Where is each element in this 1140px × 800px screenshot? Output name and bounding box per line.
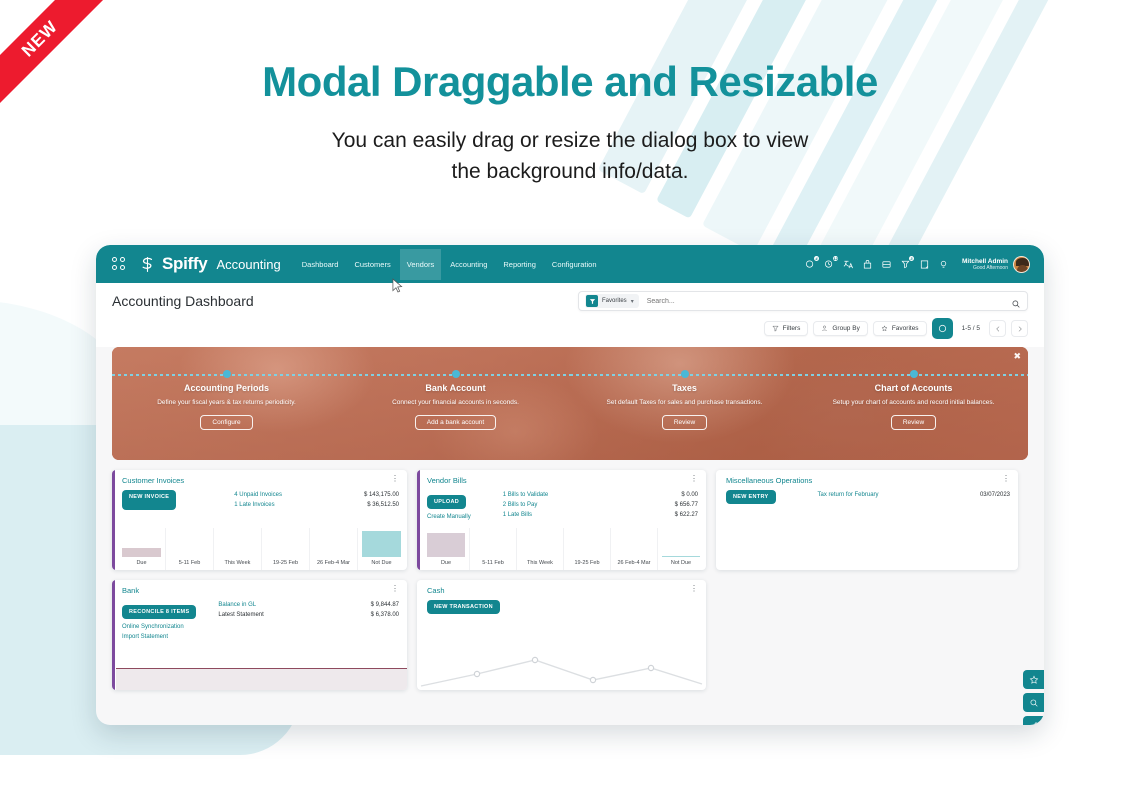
hero-subtitle-line2: the background info/data. <box>451 160 688 183</box>
favorites-chip-label: Favorites <box>602 298 627 304</box>
kebab-menu-icon[interactable]: ⋮ <box>391 586 399 592</box>
star-icon[interactable] <box>1023 670 1044 689</box>
stat-amount: $ 656.77 <box>675 500 698 510</box>
create-manually-link[interactable]: Create Manually <box>427 513 471 523</box>
kebab-menu-icon[interactable]: ⋮ <box>1002 476 1010 482</box>
card-title: Vendor Bills <box>427 476 467 485</box>
grid-view-icon[interactable] <box>880 258 892 270</box>
favorites-button[interactable]: Favorites <box>873 321 927 336</box>
card-customer-invoices[interactable]: Customer Invoices ⋮ NEW INVOICE 4 Unpaid… <box>112 470 407 570</box>
nav-item-configuration[interactable]: Configuration <box>545 249 604 280</box>
apps-grid-icon[interactable] <box>112 257 128 271</box>
user-greeting: Good Afternoon <box>962 265 1008 271</box>
step-title: Accounting Periods <box>112 383 341 393</box>
card-miscellaneous-operations[interactable]: Miscellaneous Operations ⋮ NEW ENTRY Tax… <box>716 470 1018 570</box>
dashboard-board: ✖ Accounting Periods Define your fiscal … <box>96 347 1044 690</box>
new-ribbon: NEW <box>0 0 115 115</box>
card-title: Bank <box>122 586 139 595</box>
new-transaction-button[interactable]: NEW TRANSACTION <box>427 600 500 614</box>
filters-button[interactable]: Filters <box>764 321 809 336</box>
stat-label[interactable]: Balance in GL <box>218 600 263 610</box>
axis-tick: This Week <box>527 557 553 570</box>
axis-tick: This Week <box>225 557 251 570</box>
onboarding-step-taxes: Taxes Set default Taxes for sales and pu… <box>570 347 799 460</box>
step-dot <box>223 370 231 378</box>
note-icon[interactable] <box>918 258 930 270</box>
axis-tick: 19-25 Feb <box>574 557 599 570</box>
axis-tick: 19-25 Feb <box>273 557 298 570</box>
online-synchronization-link[interactable]: Online Synchronization <box>122 623 196 633</box>
stat-amount: $ 36,512.50 <box>364 500 399 510</box>
step-desc: Set default Taxes for sales and purchase… <box>570 398 799 407</box>
stat-label[interactable]: 1 Late Bills <box>503 510 549 520</box>
new-invoice-button[interactable]: NEW INVOICE <box>122 490 176 510</box>
brand[interactable]: Spiffy <box>138 254 207 274</box>
review-taxes-button[interactable]: Review <box>662 415 707 430</box>
card-vendor-bills[interactable]: Vendor Bills ⋮ UPLOAD Create Manually 1 … <box>417 470 706 570</box>
axis-tick: 5-11 Feb <box>179 557 201 570</box>
card-title: Customer Invoices <box>122 476 184 485</box>
stat-label[interactable]: 1 Late Invoices <box>234 500 282 510</box>
step-dot <box>452 370 460 378</box>
stat-amount: $ 622.27 <box>675 510 698 520</box>
star-icon <box>881 325 888 332</box>
kanban-view-icon[interactable] <box>932 318 953 339</box>
spiffy-logo-icon <box>138 255 157 274</box>
search-icon[interactable] <box>1011 296 1021 306</box>
stat-label[interactable]: 4 Unpaid Invoices <box>234 490 282 500</box>
stat-label[interactable]: 1 Bills to Validate <box>503 490 549 500</box>
group-by-icon <box>821 325 828 332</box>
axis-tick: Due <box>441 557 451 570</box>
onboarding-banner: ✖ Accounting Periods Define your fiscal … <box>112 347 1028 460</box>
step-desc: Connect your financial accounts in secon… <box>341 398 570 407</box>
onboarding-step-chart-of-accounts: Chart of Accounts Setup your chart of ac… <box>799 347 1028 460</box>
nav-item-vendors[interactable]: Vendors <box>400 249 442 280</box>
reconcile-button[interactable]: RECONCILE 8 ITEMS <box>122 605 196 619</box>
import-statement-link[interactable]: Import Statement <box>122 633 196 643</box>
nav-item-dashboard[interactable]: Dashboard <box>295 249 346 280</box>
search-bar[interactable]: Favorites ▾ <box>578 291 1028 311</box>
new-ribbon-label: NEW <box>0 0 115 115</box>
navbar-systray: 4 12 3 <box>804 256 1034 273</box>
kebab-menu-icon[interactable]: ⋮ <box>690 476 698 482</box>
kebab-menu-icon[interactable]: ⋮ <box>391 476 399 482</box>
filter-funnel-icon <box>586 295 598 307</box>
app-name: Accounting <box>216 257 280 272</box>
avatar[interactable] <box>1013 256 1030 273</box>
card-cash[interactable]: Cash ⋮ NEW TRANSACTION <box>417 580 706 690</box>
axis-tick: 26 Feb-4 Mar <box>617 557 650 570</box>
group-by-button[interactable]: Group By <box>813 321 867 336</box>
axis-tick: 26 Feb-4 Mar <box>317 557 350 570</box>
shop-icon[interactable] <box>861 258 873 270</box>
app-navbar: Spiffy Accounting Dashboard Customers Ve… <box>96 245 1044 283</box>
prev-page-button[interactable] <box>989 320 1006 337</box>
stat-amount: $ 143,175.00 <box>364 490 399 500</box>
onboarding-step-accounting-periods: Accounting Periods Define your fiscal ye… <box>112 347 341 460</box>
messages-badge: 4 <box>814 256 819 261</box>
card-title: Miscellaneous Operations <box>726 476 812 485</box>
vendor-bills-bar-chart: Due 5-11 Feb This Week 19-25 Feb 26 Feb-… <box>417 528 706 570</box>
page-title: Modal Draggable and Resizable <box>0 58 1140 106</box>
user-menu[interactable]: Mitchell Admin Good Afternoon <box>962 256 1030 273</box>
page-root: NEW Modal Draggable and Resizable You ca… <box>0 0 1140 800</box>
mouse-cursor <box>392 278 403 293</box>
search-icon[interactable] <box>1023 693 1044 712</box>
step-desc: Setup your chart of accounts and record … <box>799 398 1028 407</box>
hero-subtitle-line1: You can easily drag or resize the dialog… <box>332 129 809 152</box>
favorites-label: Favorites <box>892 325 919 332</box>
control-bar: Accounting Dashboard Favorites ▾ <box>96 283 1044 347</box>
cards-row-1: Customer Invoices ⋮ NEW INVOICE 4 Unpaid… <box>112 470 1028 570</box>
card-title: Cash <box>427 586 445 595</box>
side-toolbar <box>1023 670 1044 725</box>
arrow-left-icon <box>994 325 1002 333</box>
messages-icon[interactable]: 4 <box>804 258 816 270</box>
axis-tick: Due <box>136 557 146 570</box>
user-name: Mitchell Admin <box>962 258 1008 265</box>
navbar-menu: Dashboard Customers Vendors Accounting R… <box>295 249 604 280</box>
step-title: Bank Account <box>341 383 570 393</box>
filters-label: Filters <box>783 325 801 332</box>
new-entry-button[interactable]: NEW ENTRY <box>726 490 776 504</box>
pager-label: 1-5 / 5 <box>958 325 984 332</box>
axis-tick: 5-11 Feb <box>482 557 504 570</box>
filter-flag-icon[interactable]: 3 <box>899 258 911 270</box>
stat-amount: $ 0.00 <box>675 490 698 500</box>
stat-amount: $ 9,844.87 <box>371 600 399 610</box>
step-title: Chart of Accounts <box>799 383 1028 393</box>
misc-entry-date: 03/07/2023 <box>980 490 1010 500</box>
link-path-icon[interactable] <box>1023 716 1044 725</box>
nav-item-accounting[interactable]: Accounting <box>443 249 494 280</box>
add-bank-account-button[interactable]: Add a bank account <box>415 415 496 430</box>
step-desc: Define your fiscal years & tax returns p… <box>112 398 341 407</box>
onboarding-step-bank-account: Bank Account Connect your financial acco… <box>341 347 570 460</box>
hero-subtitle: You can easily drag or resize the dialog… <box>0 126 1140 187</box>
step-title: Taxes <box>570 383 799 393</box>
review-chart-button[interactable]: Review <box>891 415 936 430</box>
configure-button[interactable]: Configure <box>200 415 252 430</box>
app-window: Spiffy Accounting Dashboard Customers Ve… <box>96 245 1044 725</box>
translate-icon[interactable] <box>842 258 854 270</box>
activities-icon[interactable]: 12 <box>823 258 835 270</box>
breadcrumb: Accounting Dashboard <box>112 293 254 309</box>
arrow-right-icon <box>1016 325 1024 333</box>
activities-badge: 12 <box>833 256 838 261</box>
next-page-button[interactable] <box>1011 320 1028 337</box>
card-bank[interactable]: Bank ⋮ RECONCILE 8 ITEMS Online Synchron… <box>112 580 407 690</box>
nav-item-reporting[interactable]: Reporting <box>496 249 543 280</box>
cards-row-2: Bank ⋮ RECONCILE 8 ITEMS Online Synchron… <box>112 580 1028 690</box>
search-input[interactable] <box>639 298 1011 305</box>
axis-tick: Not Due <box>671 557 691 570</box>
upload-button[interactable]: UPLOAD <box>427 495 466 509</box>
stat-label[interactable]: 2 Bills to Pay <box>503 500 549 510</box>
group-by-label: Group By <box>832 325 859 332</box>
customer-invoices-bar-chart: Due 5-11 Feb This Week 19-25 Feb 26 Feb-… <box>112 528 407 570</box>
cash-line-chart <box>417 632 706 690</box>
stat-amount: $ 6,378.00 <box>371 610 399 620</box>
stat-label: Latest Statement <box>218 610 263 620</box>
axis-tick: Not Due <box>371 557 391 570</box>
misc-entry-label[interactable]: Tax return for February <box>818 490 879 500</box>
favorites-chip[interactable]: Favorites ▾ <box>585 294 639 308</box>
brand-name: Spiffy <box>162 254 207 274</box>
bulb-icon[interactable] <box>937 258 949 270</box>
hero-section: Modal Draggable and Resizable You can ea… <box>0 58 1140 187</box>
filter-badge: 3 <box>909 256 914 261</box>
step-dot <box>681 370 689 378</box>
bank-chart-placeholder <box>116 668 407 690</box>
kebab-menu-icon[interactable]: ⋮ <box>690 586 698 592</box>
nav-item-customers[interactable]: Customers <box>347 249 397 280</box>
filter-icon <box>772 325 779 332</box>
step-dot <box>910 370 918 378</box>
